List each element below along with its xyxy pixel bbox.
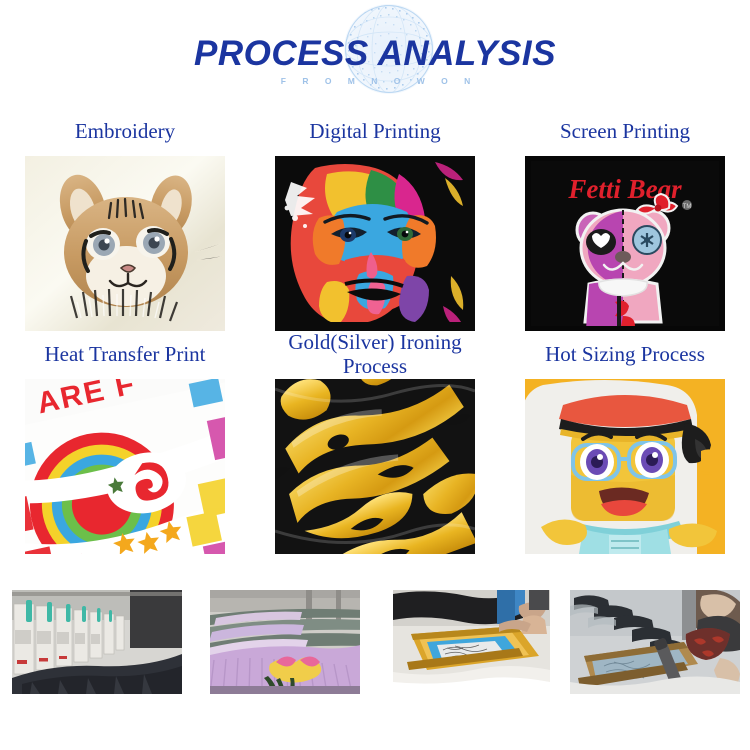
process-row-1: Embroidery xyxy=(0,108,750,331)
factory-photo-strip xyxy=(0,590,750,694)
process-label-digital-printing: Digital Printing xyxy=(303,108,446,156)
process-analysis-page: PROCESS ANALYSIS F R O M N O W O N Embro… xyxy=(0,0,750,750)
fetti-bear-print-image[interactable]: Fetti Bear xyxy=(525,156,725,331)
process-cell-hot-sizing[interactable]: Hot Sizing Process xyxy=(500,331,750,554)
process-cell-digital-printing[interactable]: Digital Printing xyxy=(250,108,500,331)
process-label-embroidery: Embroidery xyxy=(69,108,181,156)
process-cell-gold-ironing[interactable]: Gold(Silver) Ironing Process xyxy=(250,331,500,554)
screen-printing-frame-photo[interactable] xyxy=(393,590,550,694)
screen-printing-worker-photo[interactable] xyxy=(570,590,740,694)
process-row-2: Heat Transfer Print ARE F xyxy=(0,331,750,554)
process-label-heat-transfer: Heat Transfer Print xyxy=(39,331,212,379)
process-grid: Embroidery xyxy=(0,108,750,554)
process-cell-screen-printing[interactable]: Screen Printing Fetti Bear xyxy=(500,108,750,331)
process-label-gold-ironing: Gold(Silver) Ironing Process xyxy=(250,331,500,379)
heat-transfer-print-image[interactable]: ARE F xyxy=(25,379,225,554)
svg-text:TM: TM xyxy=(683,204,692,210)
process-label-screen-printing: Screen Printing xyxy=(554,108,696,156)
page-title: PROCESS ANALYSIS xyxy=(0,0,750,71)
process-label-hot-sizing: Hot Sizing Process xyxy=(539,331,711,379)
hot-sizing-character-image[interactable] xyxy=(525,379,725,554)
page-header: PROCESS ANALYSIS F R O M N O W O N xyxy=(0,0,750,105)
embroidery-machine-photo[interactable] xyxy=(12,590,182,694)
embroidered-cat-image[interactable] xyxy=(25,156,225,331)
process-cell-embroidery[interactable]: Embroidery xyxy=(0,108,250,331)
page-subtitle: F R O M N O W O N xyxy=(0,71,750,86)
digital-printing-machine-photo[interactable] xyxy=(210,590,360,694)
process-cell-heat-transfer[interactable]: Heat Transfer Print ARE F xyxy=(0,331,250,554)
gold-foil-ironing-image[interactable] xyxy=(275,379,475,554)
digital-print-face-image[interactable] xyxy=(275,156,475,331)
